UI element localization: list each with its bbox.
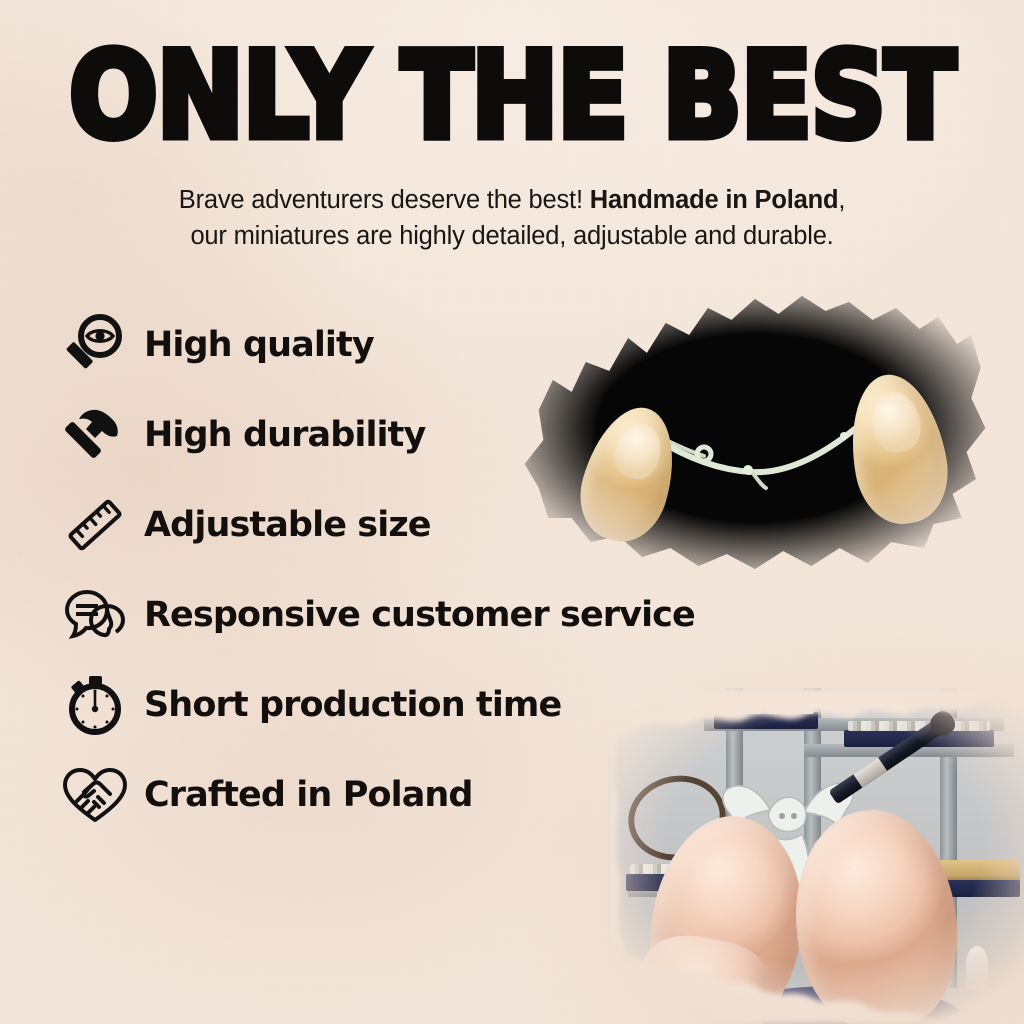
speech-bubbles-icon <box>62 582 128 648</box>
thumbnail-right <box>867 388 925 455</box>
stopwatch-icon <box>62 672 128 738</box>
infographic-page: ONLY THE BEST Brave adventurers deserve … <box>0 0 1024 1024</box>
subtitle-lead: Brave adventurers deserve the best! <box>179 186 583 214</box>
tray-miniatures <box>718 704 814 714</box>
feature-label: Responsive customer service <box>144 595 695 635</box>
feature-label: Adjustable size <box>144 505 431 545</box>
feature-label: Short production time <box>144 685 561 725</box>
subtitle-comma: , <box>838 186 845 214</box>
thumbnail-left <box>609 419 667 484</box>
hammer-icon <box>62 402 128 468</box>
feature-item-customer-service: Responsive customer service <box>62 570 762 660</box>
feature-label: Crafted in Poland <box>144 775 473 815</box>
subtitle: Brave adventurers deserve the best! Hand… <box>90 182 934 254</box>
photo-painting-workshop <box>608 688 1024 1024</box>
unpainted-miniature <box>966 946 988 990</box>
ruler-icon <box>62 492 128 558</box>
handshake-heart-icon <box>62 762 128 828</box>
photo-flexible-miniature <box>520 278 990 578</box>
subtitle-line2: our miniatures are highly detailed, adju… <box>190 222 833 250</box>
magnifier-eye-icon <box>62 312 128 378</box>
subtitle-highlight: Handmade in Poland <box>590 186 839 214</box>
parts-tray <box>714 712 818 729</box>
feature-label: High quality <box>144 325 374 365</box>
feature-label: High durability <box>144 415 425 455</box>
page-title: ONLY THE BEST <box>0 36 1024 155</box>
miniature-part <box>648 418 878 488</box>
